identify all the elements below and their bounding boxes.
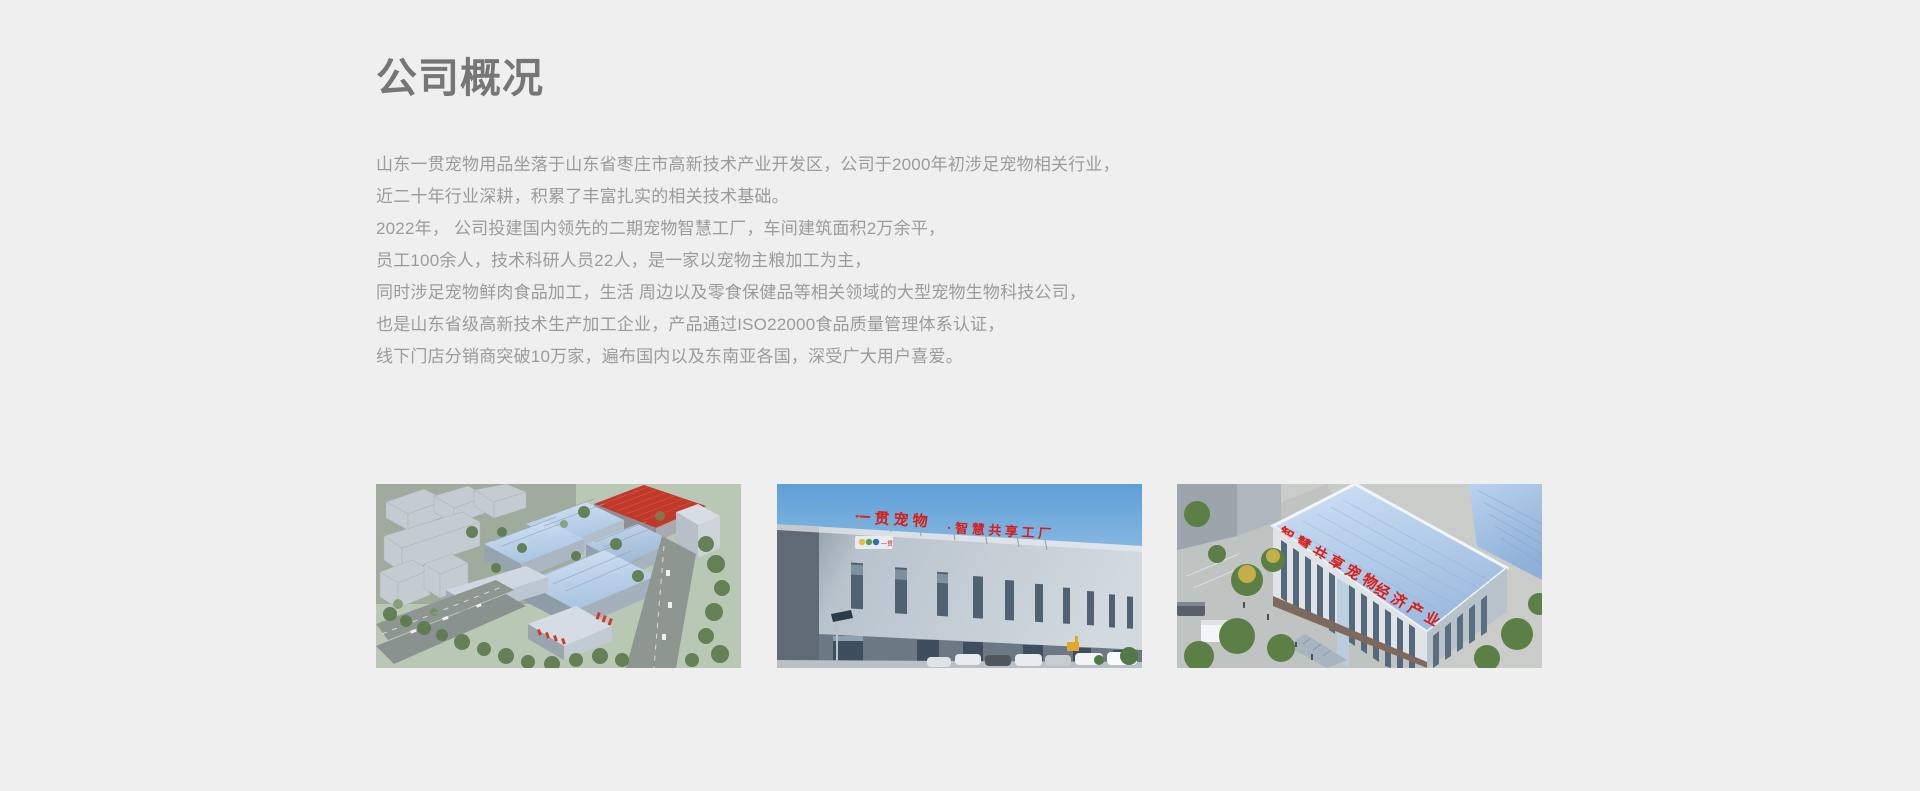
pet-economy-industrial-park-photo: 智 慧 共 享 宠 物 经 济 产 业 园 <box>1177 484 1542 668</box>
description-line: 也是山东省级高新技术生产加工企业，产品通过ISO22000食品质量管理体系认证， <box>376 309 1542 341</box>
content-column: 公司概况 山东一贯宠物用品坐落于山东省枣庄市高新技术产业开发区，公司于2000年… <box>376 0 1542 373</box>
description-line: 线下门店分销商突破10万家，遍布国内以及东南亚各国，深受广大用户喜爱。 <box>376 341 1542 373</box>
svg-text:一贯: 一贯 <box>881 541 893 548</box>
company-description: 山东一贯宠物用品坐落于山东省枣庄市高新技术产业开发区，公司于2000年初涉足宠物… <box>376 149 1542 373</box>
page-title: 公司概况 <box>376 53 1542 104</box>
facility-photo-gallery: 一 贯 宠 物 · 智 慧 共 享 工 厂 一贯 <box>376 484 1542 668</box>
company-overview-page: 公司概况 山东一贯宠物用品坐落于山东省枣庄市高新技术产业开发区，公司于2000年… <box>0 0 1920 791</box>
description-line: 2022年， 公司投建国内领先的二期宠物智慧工厂，车间建筑面积2万余平， <box>376 213 1542 245</box>
description-line: 山东一贯宠物用品坐落于山东省枣庄市高新技术产业开发区，公司于2000年初涉足宠物… <box>376 149 1542 181</box>
description-line: 员工100余人，技术科研人员22人，是一家以宠物主粮加工为主， <box>376 245 1542 277</box>
description-line: 同时涉足宠物鲜肉食品加工，生活 周边以及零食保健品等相关领域的大型宠物生物科技公… <box>376 277 1542 309</box>
aerial-industrial-park-photo <box>376 484 741 668</box>
description-line: 近二十年行业深耕，积累了丰富扎实的相关技术基础。 <box>376 181 1542 213</box>
smart-shared-factory-photo: 一 贯 宠 物 · 智 慧 共 享 工 厂 一贯 <box>777 484 1142 668</box>
